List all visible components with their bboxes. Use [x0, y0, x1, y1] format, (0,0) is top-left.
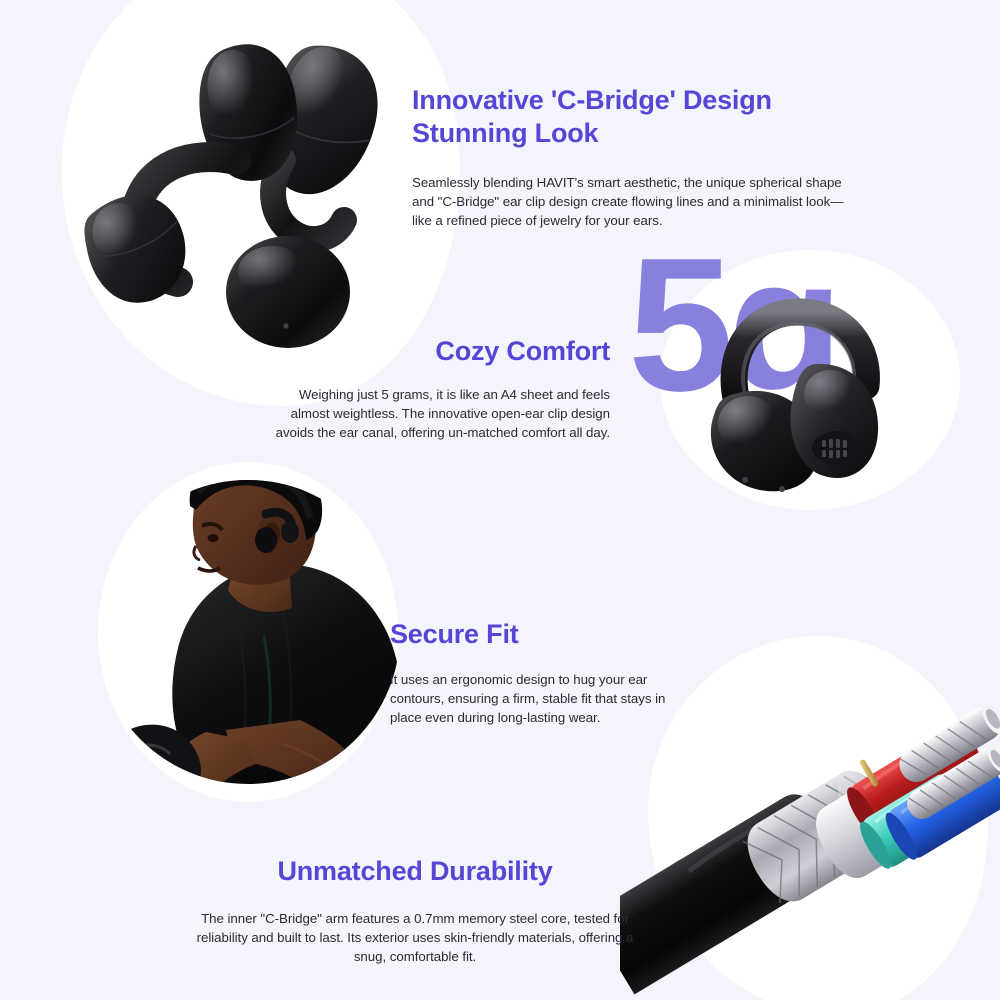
earbud-pair-photo [40, 10, 440, 390]
cable-cutaway-photo [620, 640, 1000, 1000]
section-2-text-block: Cozy Comfort Weighing just 5 grams, it i… [268, 335, 610, 443]
section-1-heading: Innovative 'C-Bridge' Design Stunning Lo… [412, 84, 852, 150]
speaker-grille [812, 431, 860, 465]
section-4-heading: Unmatched Durability [195, 855, 635, 888]
section-4-body: The inner "C-Bridge" arm features a 0.7m… [195, 910, 635, 967]
section-4-text-block: Unmatched Durability The inner "C-Bridge… [195, 855, 635, 967]
section-2-body: Weighing just 5 grams, it is like an A4 … [268, 386, 610, 443]
product-feature-page: Innovative 'C-Bridge' Design Stunning Lo… [0, 0, 1000, 1000]
earbud-driver-rear [226, 236, 350, 348]
head [190, 452, 322, 585]
athlete-wearing-earbud-photo [86, 452, 416, 812]
single-earbud-photo [690, 290, 940, 500]
mouth [198, 568, 220, 571]
section-1-text-block: Innovative 'C-Bridge' Design Stunning Lo… [412, 84, 852, 231]
eye [208, 534, 219, 542]
section-2-heading: Cozy Comfort [268, 335, 610, 368]
